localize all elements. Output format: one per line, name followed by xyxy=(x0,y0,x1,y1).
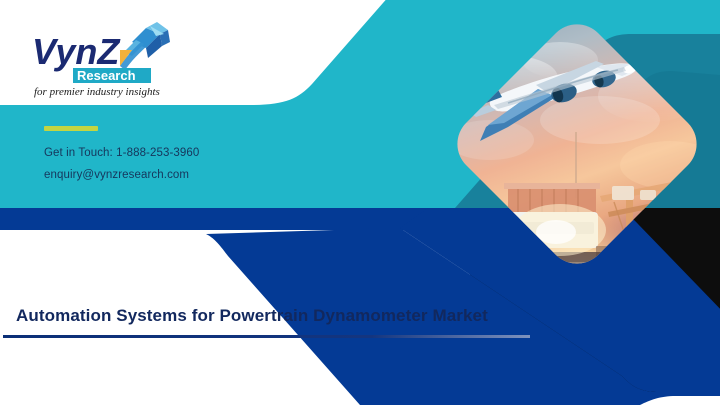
slide-canvas: VynZ Research for premier industry insig… xyxy=(0,0,720,405)
vynz-logo-icon: VynZ Research for premier industry insig… xyxy=(28,20,188,100)
logo-subname: Research xyxy=(77,68,136,83)
page-title: Automation Systems for Powertrain Dynamo… xyxy=(16,305,576,327)
title-block: Automation Systems for Powertrain Dynamo… xyxy=(16,305,576,327)
logo-tagline: for premier industry insights xyxy=(34,86,160,98)
contact-phone[interactable]: Get in Touch: 1-888-253-3960 xyxy=(44,142,364,164)
brand-logo[interactable]: VynZ Research for premier industry insig… xyxy=(28,20,188,100)
blue-left-bar xyxy=(0,208,470,230)
contact-email[interactable]: enquiry@vynzresearch.com xyxy=(44,164,364,186)
contact-block: Get in Touch: 1-888-253-3960 enquiry@vyn… xyxy=(44,126,364,186)
accent-rule xyxy=(44,126,98,131)
logo-wordmark: VynZ xyxy=(32,31,121,72)
title-underline xyxy=(3,335,530,338)
